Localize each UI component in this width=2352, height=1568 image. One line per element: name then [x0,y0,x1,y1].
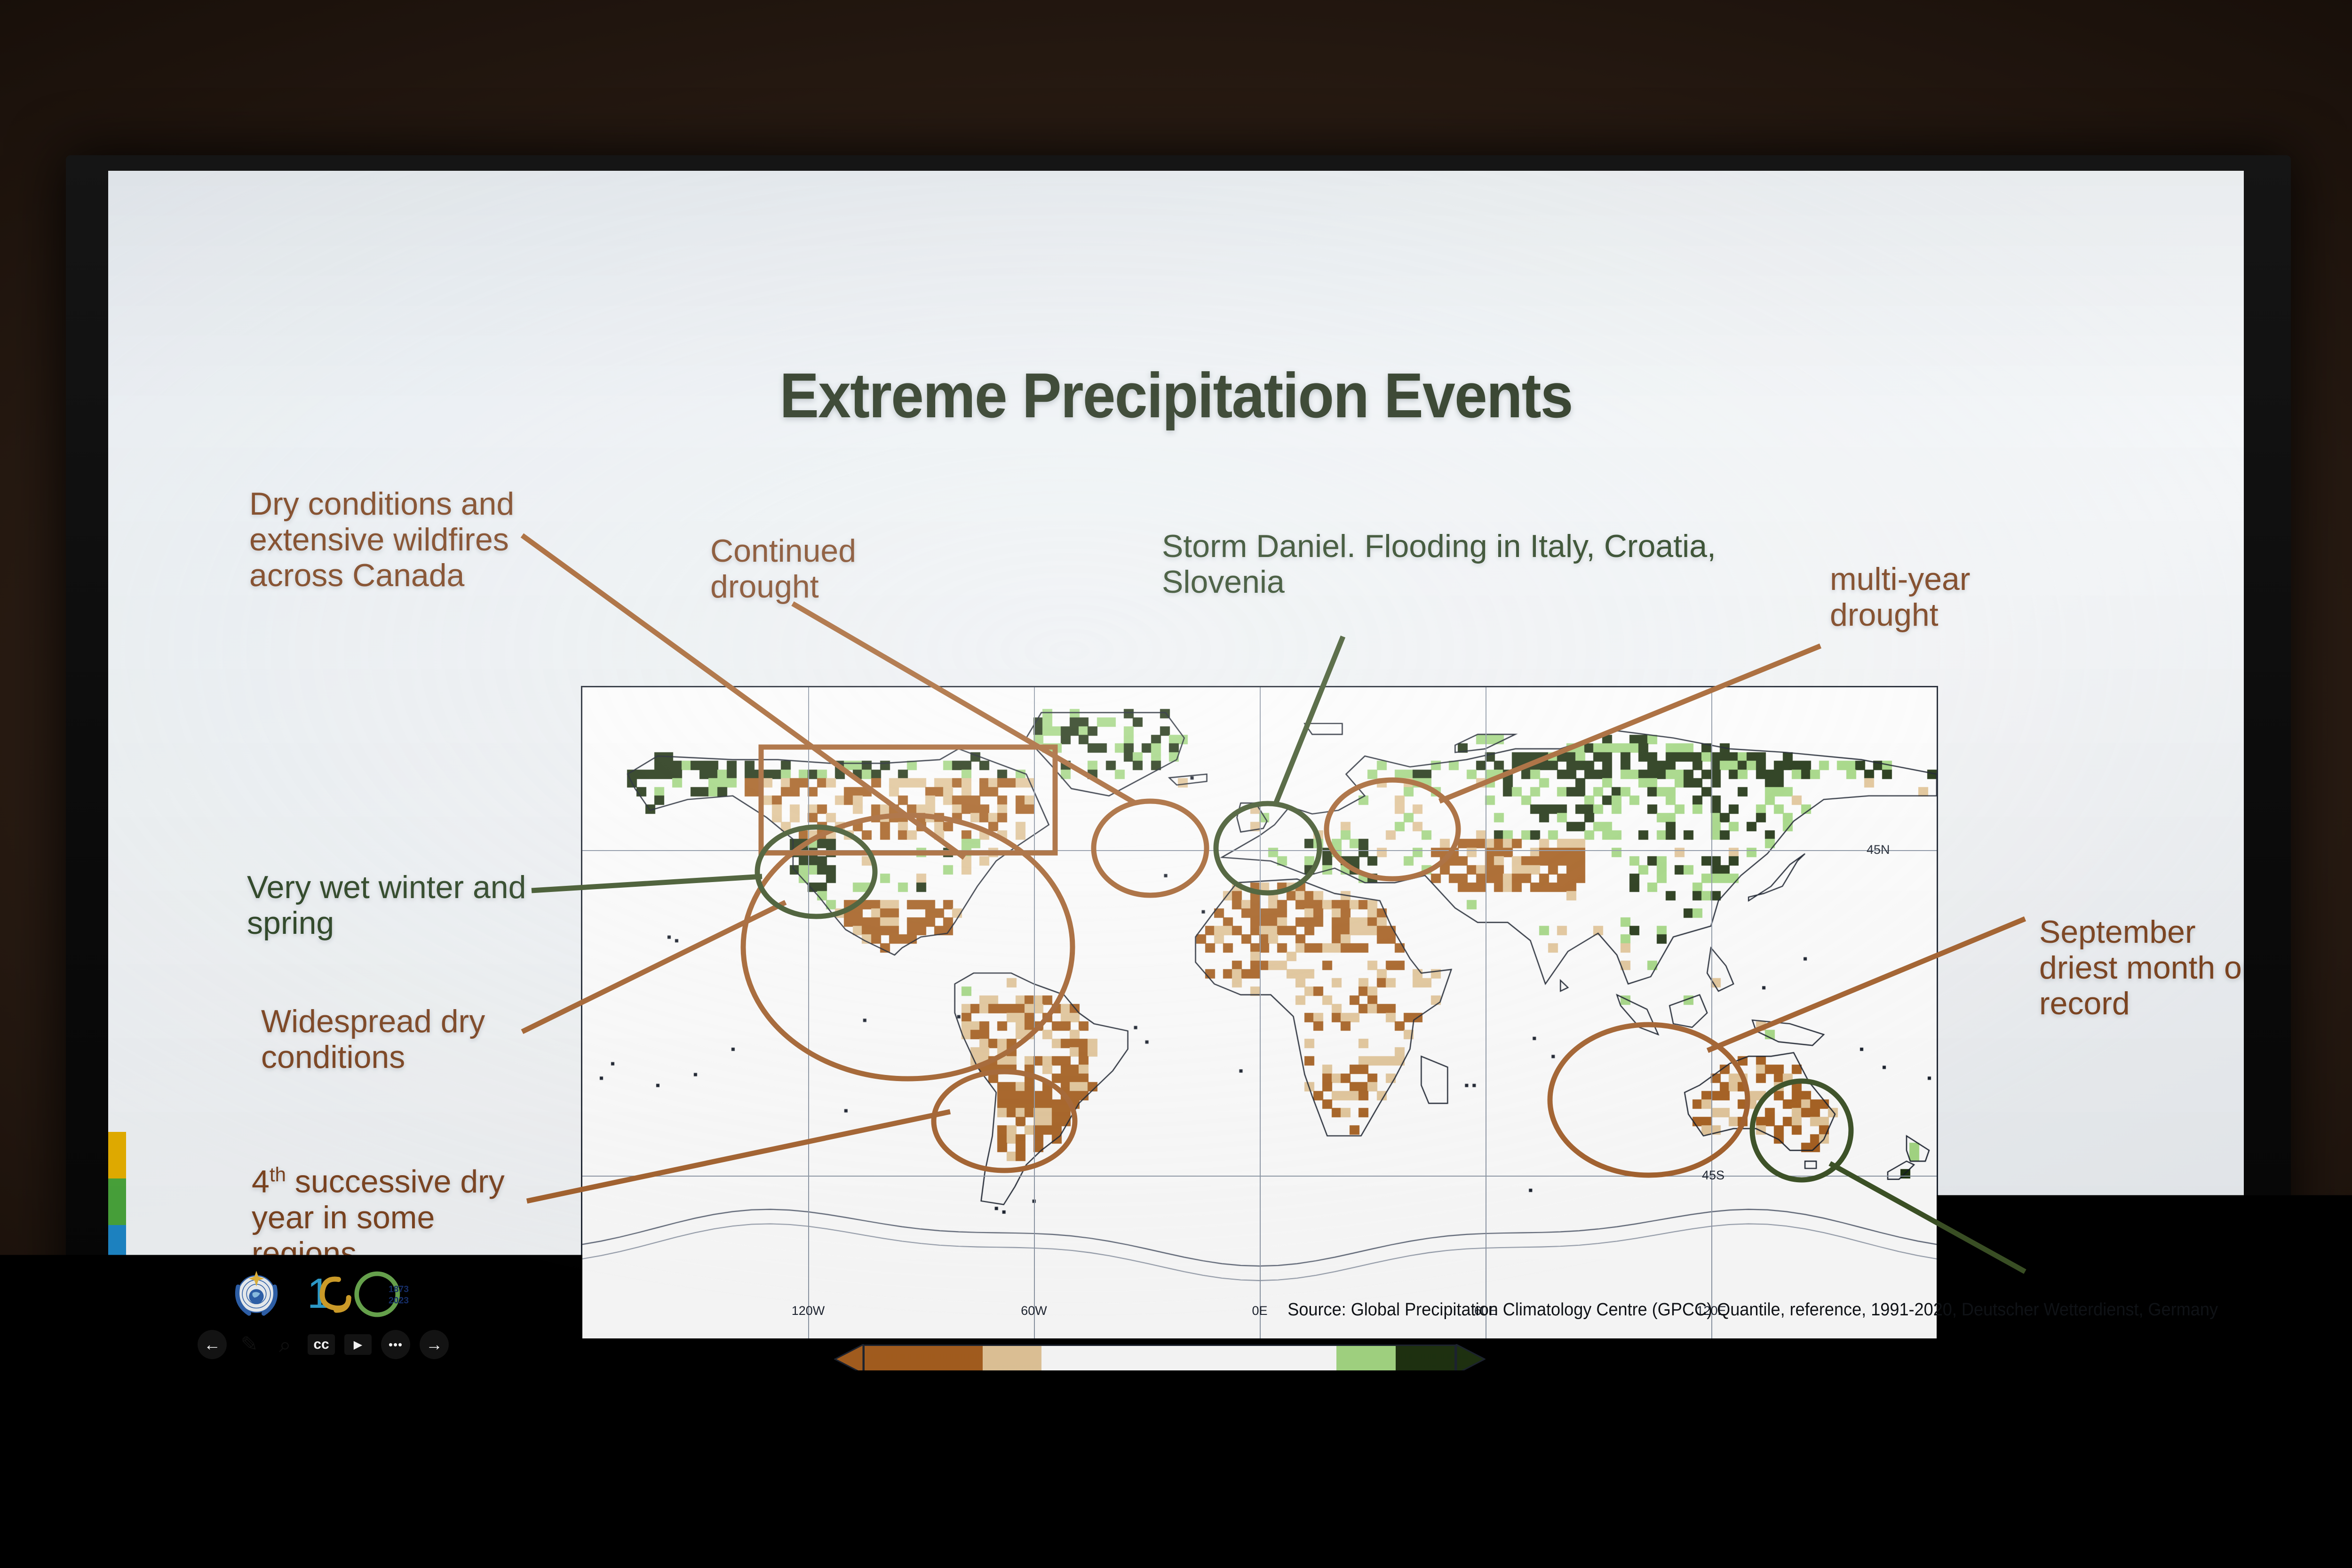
page-title: Extreme Precipitation Events [183,359,2169,432]
lon-label-60w: 60W [1021,1304,1047,1318]
annotation-fourth-suffix: successive dry year in some regions [252,1164,505,1271]
colorbar-segment-2 [1041,1346,1336,1370]
anniversary-year-to: 2023 [389,1295,409,1305]
annotation-very-wet-winter: Very wet winter and spring [247,869,539,941]
annotation-fourth-superscript: th [270,1163,286,1186]
anniversary-150-logo: 1 1873 2023 [303,1267,430,1321]
colorbar-gradient [863,1345,1456,1370]
video-button[interactable]: ▶ [344,1334,372,1355]
monitor-stand [1138,1400,1181,1414]
arrow-right-icon: → [426,1336,443,1353]
video-play-icon: ▶ [354,1338,362,1352]
lat-label-45s: 45S [1702,1168,1724,1183]
brand-color-2 [108,1225,126,1272]
colorbar-arrow-right [1455,1344,1486,1370]
monitor-power-led [1153,1393,1164,1398]
zoom-tool-button[interactable]: ⌕ [272,1331,298,1358]
ellipsis-icon: ••• [389,1338,403,1351]
colorbar-segment-4 [1396,1346,1454,1370]
annotation-fourth-successive-dry-year: 4th successive dry year in some regions [252,1163,534,1271]
next-slide-button[interactable]: → [420,1330,449,1359]
colorbar-segment-0 [865,1346,983,1370]
brand-color-0 [108,1132,126,1178]
previous-slide-button[interactable]: ← [198,1330,227,1359]
presentation-slide: Extreme Precipitation Events Dry conditi… [108,171,2244,1370]
colorbar-segment-3 [1336,1346,1395,1370]
colorbar-arrow-left [834,1344,864,1370]
more-options-button[interactable]: ••• [381,1330,410,1359]
logo-group: 1 1873 2023 [226,1262,452,1333]
world-precipitation-map: 120W 60W 0E 60E 120E 45N 45S [581,686,1938,1340]
arrow-left-icon: ← [204,1336,221,1353]
annotation-storm-daniel: Storm Daniel. Flooding in Italy, Croatia… [1162,528,1717,600]
map-graticule [582,687,1937,1338]
svg-text:1: 1 [307,1270,331,1317]
annotation-fourth-prefix: 4 [252,1164,270,1200]
lat-label-45n: 45N [1867,843,1890,857]
annotation-canada: Dry conditions and extensive wildfires a… [249,486,532,593]
colorbar-legend: 0,0 0,2 0,4 0,6 0,8 1,0 Quantile Much dr… [807,1345,1715,1370]
closed-captions-icon: cc [313,1337,329,1353]
pen-tool-button[interactable]: ✎ [236,1331,262,1358]
source-note: Source: Global Precipitation Climatology… [1110,1300,2218,1320]
annotation-september-driest: September driest month on record [2039,914,2244,1021]
pen-icon: ✎ [241,1334,258,1355]
presentation-toolbar[interactable]: ← ✎ ⌕ cc ▶ ••• → [198,1326,449,1363]
annotation-new-zealand: New Zealand extreme rain and flooding Ja… [2037,1283,2244,1370]
annotation-continued-drought: Continued drought [710,533,917,605]
annotation-widespread-dry: Widespread dry conditions [261,1003,529,1075]
brand-color-1 [108,1178,126,1225]
colorbar-segment-1 [983,1346,1041,1370]
captions-button[interactable]: cc [308,1334,335,1355]
magnifier-icon: ⌕ [279,1334,291,1355]
annotation-multi-year-drought: multi-year drought [1830,561,2056,633]
wmo-brand-colorbar [108,1132,126,1318]
anniversary-year-from: 1873 [389,1284,409,1294]
brand-color-3 [108,1271,126,1318]
lon-label-120w: 120W [792,1304,825,1318]
wmo-logo [226,1262,287,1323]
